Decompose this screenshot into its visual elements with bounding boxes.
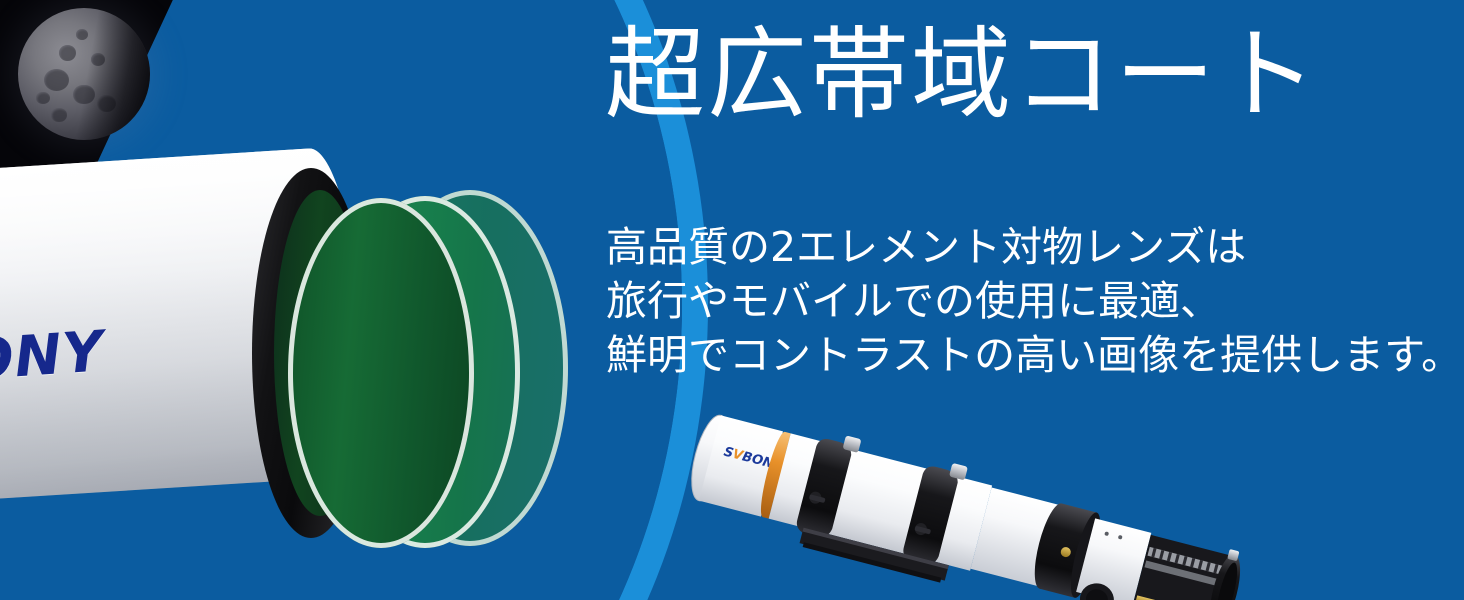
headline: 超広帯域コート — [605, 16, 1319, 134]
moon-image — [18, 8, 150, 140]
tube-brand-logo: ONY — [0, 319, 106, 393]
product-telescope-image: S V BONY — [650, 398, 1270, 600]
moon-terminator-shadow — [18, 8, 150, 140]
body-copy: 高品質の2エレメント対物レンズは 旅行やモバイルでの使用に最適、 鮮明でコントラ… — [606, 220, 1462, 382]
body-copy-line-2: 旅行やモバイルでの使用に最適、 — [606, 274, 1462, 328]
body-copy-line-1: 高品質の2エレメント対物レンズは — [606, 220, 1462, 274]
lens-element-1-edge — [288, 198, 474, 548]
body-copy-line-3: 鮮明でコントラストの高い画像を提供します。 — [606, 328, 1462, 382]
product-banner: ONY 超広帯域コート 高品質の2エレメント対物レンズは 旅行やモバイルでの使用… — [0, 0, 1464, 600]
